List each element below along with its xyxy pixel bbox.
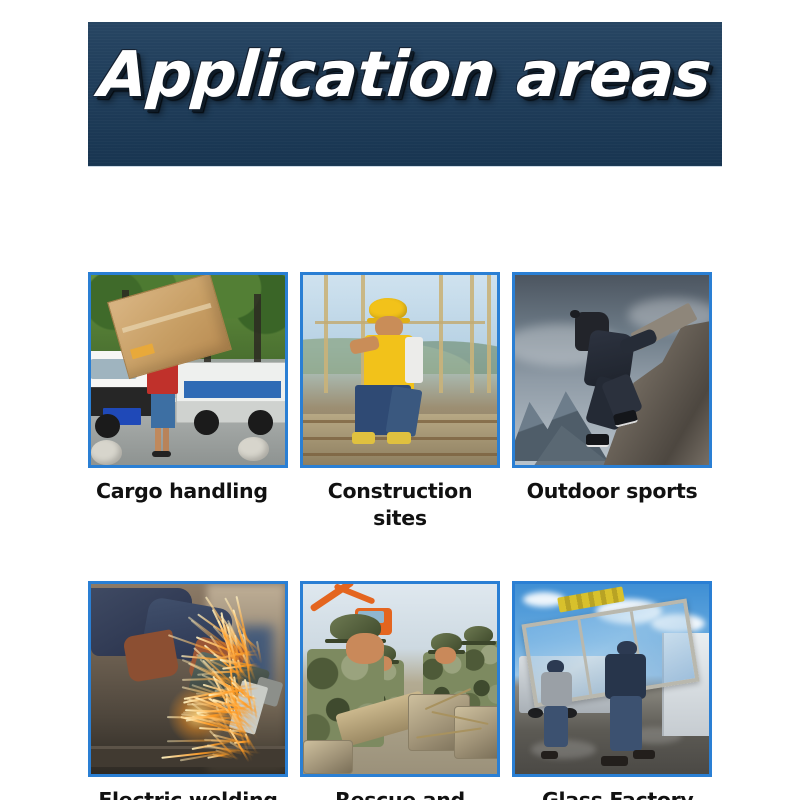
thumbnail-frame[interactable] [300, 581, 500, 777]
application-areas-poster: Application areas [0, 0, 800, 800]
thumbnail-frame[interactable] [512, 581, 712, 777]
application-gallery: Cargo handling [88, 272, 722, 800]
outdoor-sports-photo [515, 275, 709, 465]
gallery-item-caption: Rescue and rescue [300, 787, 500, 800]
gallery-row-1: Cargo handling [88, 272, 722, 532]
cargo-handling-photo [91, 275, 285, 465]
construction-sites-photo [303, 275, 497, 465]
gallery-item-caption: Cargo handling [88, 478, 288, 505]
gallery-row-2: Electric welding and grinding [88, 581, 722, 800]
thumbnail-frame[interactable] [88, 581, 288, 777]
gallery-item-caption: Glass Factory [512, 787, 712, 800]
electric-welding-and-grinding-photo [91, 584, 285, 774]
gallery-item-rescue-and-rescue[interactable]: Rescue and rescue [300, 581, 500, 800]
gallery-item-electric-welding-and-grinding[interactable]: Electric welding and grinding [88, 581, 288, 800]
thumbnail-frame[interactable] [512, 272, 712, 468]
gallery-item-construction-sites[interactable]: Construction sites [300, 272, 500, 532]
gallery-item-caption: Outdoor sports [512, 478, 712, 505]
gallery-item-cargo-handling[interactable]: Cargo handling [88, 272, 288, 532]
gallery-item-caption: Electric welding and grinding [88, 787, 288, 800]
gallery-item-glass-factory[interactable]: Glass Factory [512, 581, 712, 800]
glass-factory-photo [515, 584, 709, 774]
gallery-item-caption: Construction sites [300, 478, 500, 532]
header-banner: Application areas [88, 22, 722, 166]
thumbnail-frame[interactable] [88, 272, 288, 468]
page-title: Application areas [97, 42, 713, 108]
rescue-and-rescue-photo [303, 584, 497, 774]
gallery-item-outdoor-sports[interactable]: Outdoor sports [512, 272, 712, 532]
thumbnail-frame[interactable] [300, 272, 500, 468]
